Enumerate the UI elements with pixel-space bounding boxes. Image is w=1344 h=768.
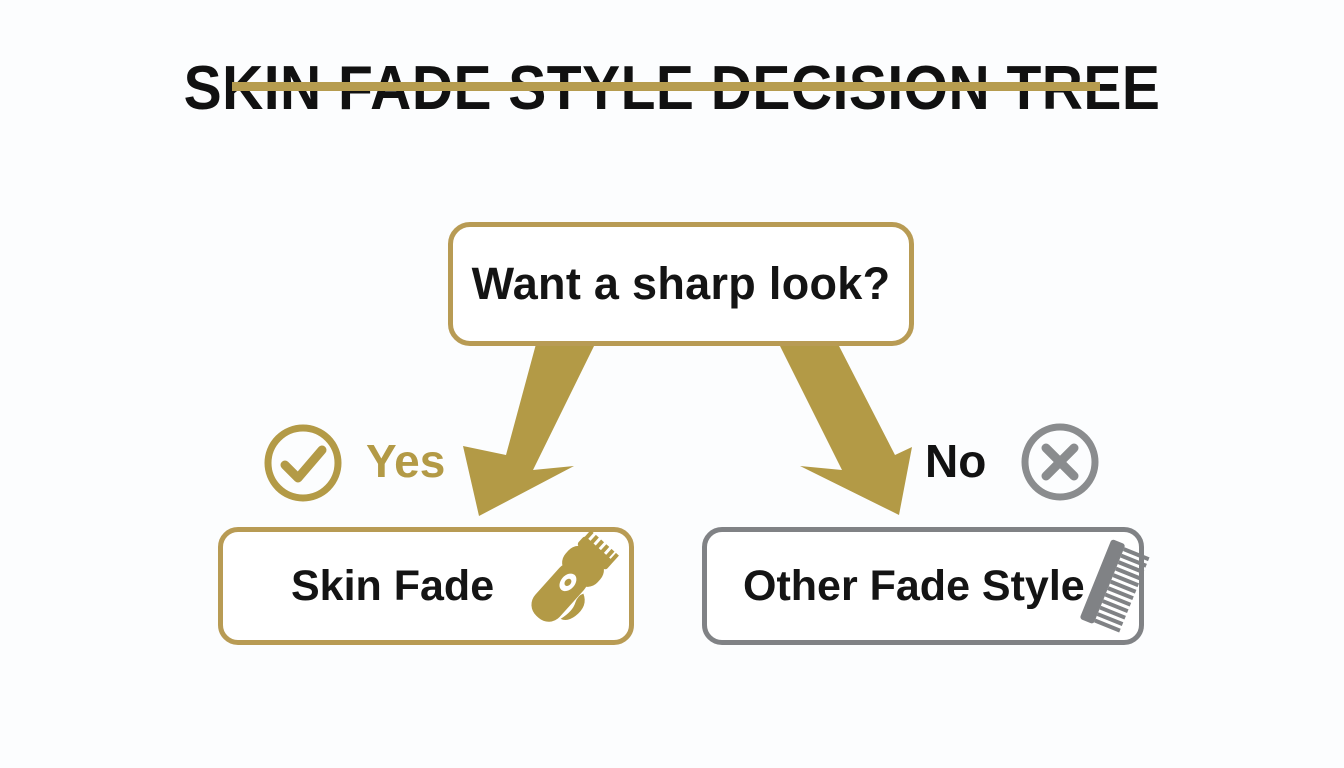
title-underline-rule [232, 82, 1100, 91]
outcome-node-label: Skin Fade [291, 562, 494, 611]
decision-node-label: Want a sharp look? [472, 258, 891, 310]
comb-icon [1068, 532, 1164, 642]
arrow-no [779, 344, 912, 515]
outcome-node-label: Other Fade Style [743, 562, 1085, 611]
decision-node[interactable]: Want a sharp look? [448, 222, 914, 346]
hair-clipper-icon [508, 528, 624, 644]
x-circle-icon [1018, 420, 1102, 504]
arrow-yes [463, 344, 595, 516]
check-circle-icon [262, 422, 344, 504]
diagram-canvas: SKIN FADE STYLE DECISION TREE Want a sha… [0, 0, 1344, 768]
branch-label-no: No [925, 434, 986, 488]
branch-label-yes: Yes [366, 434, 445, 488]
